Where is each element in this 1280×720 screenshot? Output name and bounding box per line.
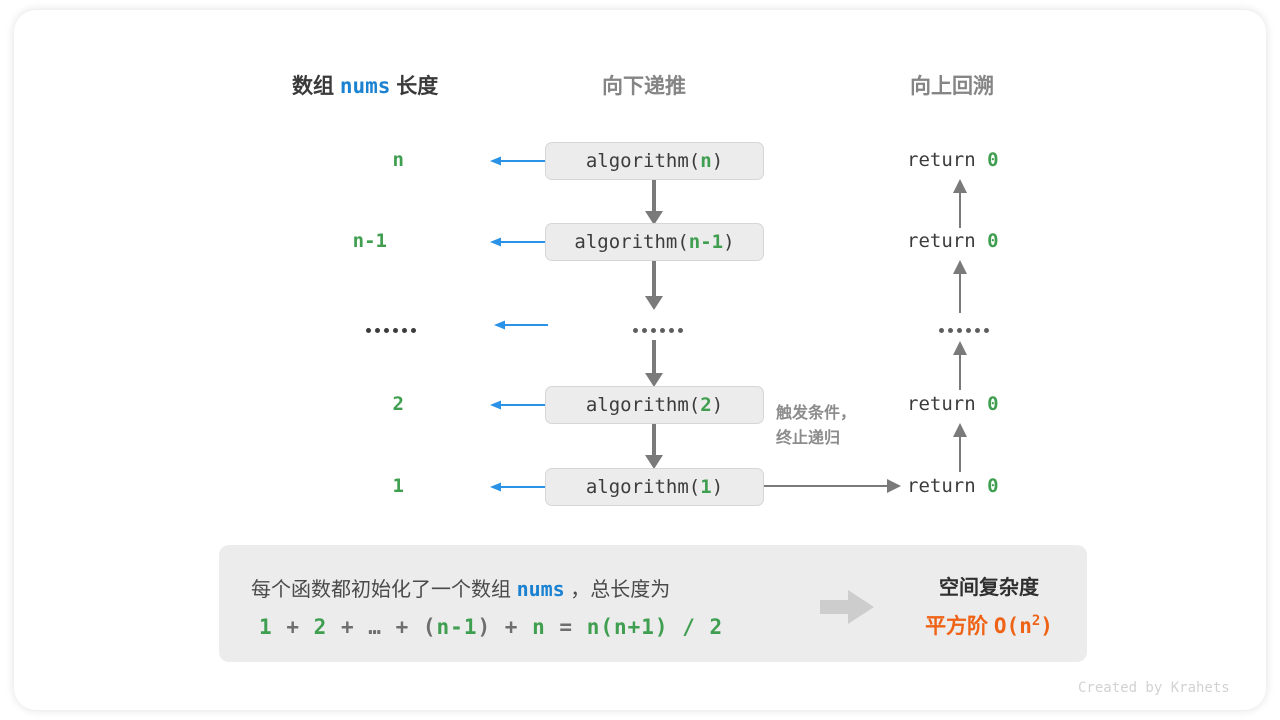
call-box-row-4[interactable]: algorithm(2) bbox=[545, 386, 764, 424]
return-label-row-2: return 0 bbox=[907, 230, 999, 252]
blue-arrow-row-3 bbox=[492, 313, 550, 337]
complexity-label: 平方阶 bbox=[925, 615, 988, 638]
termination-note-line-1: 触发条件， bbox=[776, 402, 856, 427]
down-arrow-1-to-2 bbox=[640, 180, 668, 226]
summary-formula: 1 + 2 + … + (n-1) + n = n(n+1) / 2 bbox=[259, 615, 723, 639]
left-value-row-5: 1 bbox=[284, 475, 404, 497]
header-middle-downward-recursion: 向下递推 bbox=[602, 70, 686, 100]
blue-arrow-row-5 bbox=[488, 475, 550, 499]
base-case-arrow bbox=[764, 475, 904, 497]
left-value-row-3-ellipsis bbox=[366, 328, 416, 333]
header-left-code-nums: nums bbox=[340, 74, 391, 98]
summary-line-1: 每个函数都初始化了一个数组 nums ，总长度为 bbox=[251, 573, 670, 602]
call-box-text-row-1: algorithm(n) bbox=[586, 150, 723, 172]
left-value-row-1: n bbox=[284, 149, 404, 171]
left-value-row-2: n-1 bbox=[267, 230, 387, 252]
summary-line1-code-nums: nums bbox=[517, 577, 565, 601]
termination-note-line-2: 终止递归 bbox=[776, 427, 856, 452]
summary-panel: 每个函数都初始化了一个数组 nums ，总长度为 1 + 2 + … + (n-… bbox=[219, 545, 1087, 662]
summary-complexity: 平方阶 O(n2) bbox=[891, 610, 1087, 640]
summary-line1-after: ，总长度为 bbox=[570, 579, 670, 601]
down-arrow-dots-to-row4 bbox=[640, 340, 668, 388]
blue-arrow-row-1 bbox=[488, 149, 550, 173]
up-arrow-dots-to-2 bbox=[946, 259, 974, 313]
call-box-text-row-5: algorithm(1) bbox=[586, 476, 723, 498]
call-box-row-1[interactable]: algorithm(n) bbox=[545, 142, 764, 180]
block-arrow-icon bbox=[820, 590, 876, 624]
middle-row-3-ellipsis bbox=[633, 328, 683, 333]
header-right-upward-backtrack: 向上回溯 bbox=[910, 70, 994, 100]
termination-note: 触发条件， 终止递归 bbox=[776, 402, 856, 452]
return-label-row-1: return 0 bbox=[907, 149, 999, 171]
left-value-row-4: 2 bbox=[284, 393, 404, 415]
blue-arrow-row-4 bbox=[488, 393, 550, 417]
header-left-prefix: 数组 bbox=[292, 75, 334, 98]
blue-arrow-row-2 bbox=[488, 230, 550, 254]
complexity-value: O(n2) bbox=[994, 614, 1053, 638]
call-box-text-row-2: algorithm(n-1) bbox=[574, 231, 734, 253]
up-arrow-row4-to-dots bbox=[946, 340, 974, 390]
up-arrow-row5-to-row4 bbox=[946, 422, 974, 472]
header-left-suffix: 长度 bbox=[396, 75, 438, 98]
right-row-3-ellipsis bbox=[939, 328, 989, 333]
footer-credit: Created by Krahets bbox=[1078, 680, 1230, 696]
header-left-array-length: 数组 nums 长度 bbox=[292, 70, 438, 100]
summary-line1-before: 每个函数都初始化了一个数组 bbox=[251, 579, 511, 601]
return-label-row-4: return 0 bbox=[907, 393, 999, 415]
down-arrow-row4-to-row5 bbox=[640, 424, 668, 470]
call-box-row-2[interactable]: algorithm(n-1) bbox=[545, 223, 764, 261]
summary-title: 空间复杂度 bbox=[891, 571, 1087, 600]
call-box-row-5[interactable]: algorithm(1) bbox=[545, 468, 764, 506]
diagram-canvas: 数组 nums 长度 向下递推 向上回溯 n algorithm(n) retu… bbox=[14, 10, 1266, 710]
call-box-text-row-4: algorithm(2) bbox=[586, 394, 723, 416]
up-arrow-2-to-1 bbox=[946, 178, 974, 228]
return-label-row-5: return 0 bbox=[907, 475, 999, 497]
down-arrow-2-to-dots bbox=[640, 261, 668, 311]
